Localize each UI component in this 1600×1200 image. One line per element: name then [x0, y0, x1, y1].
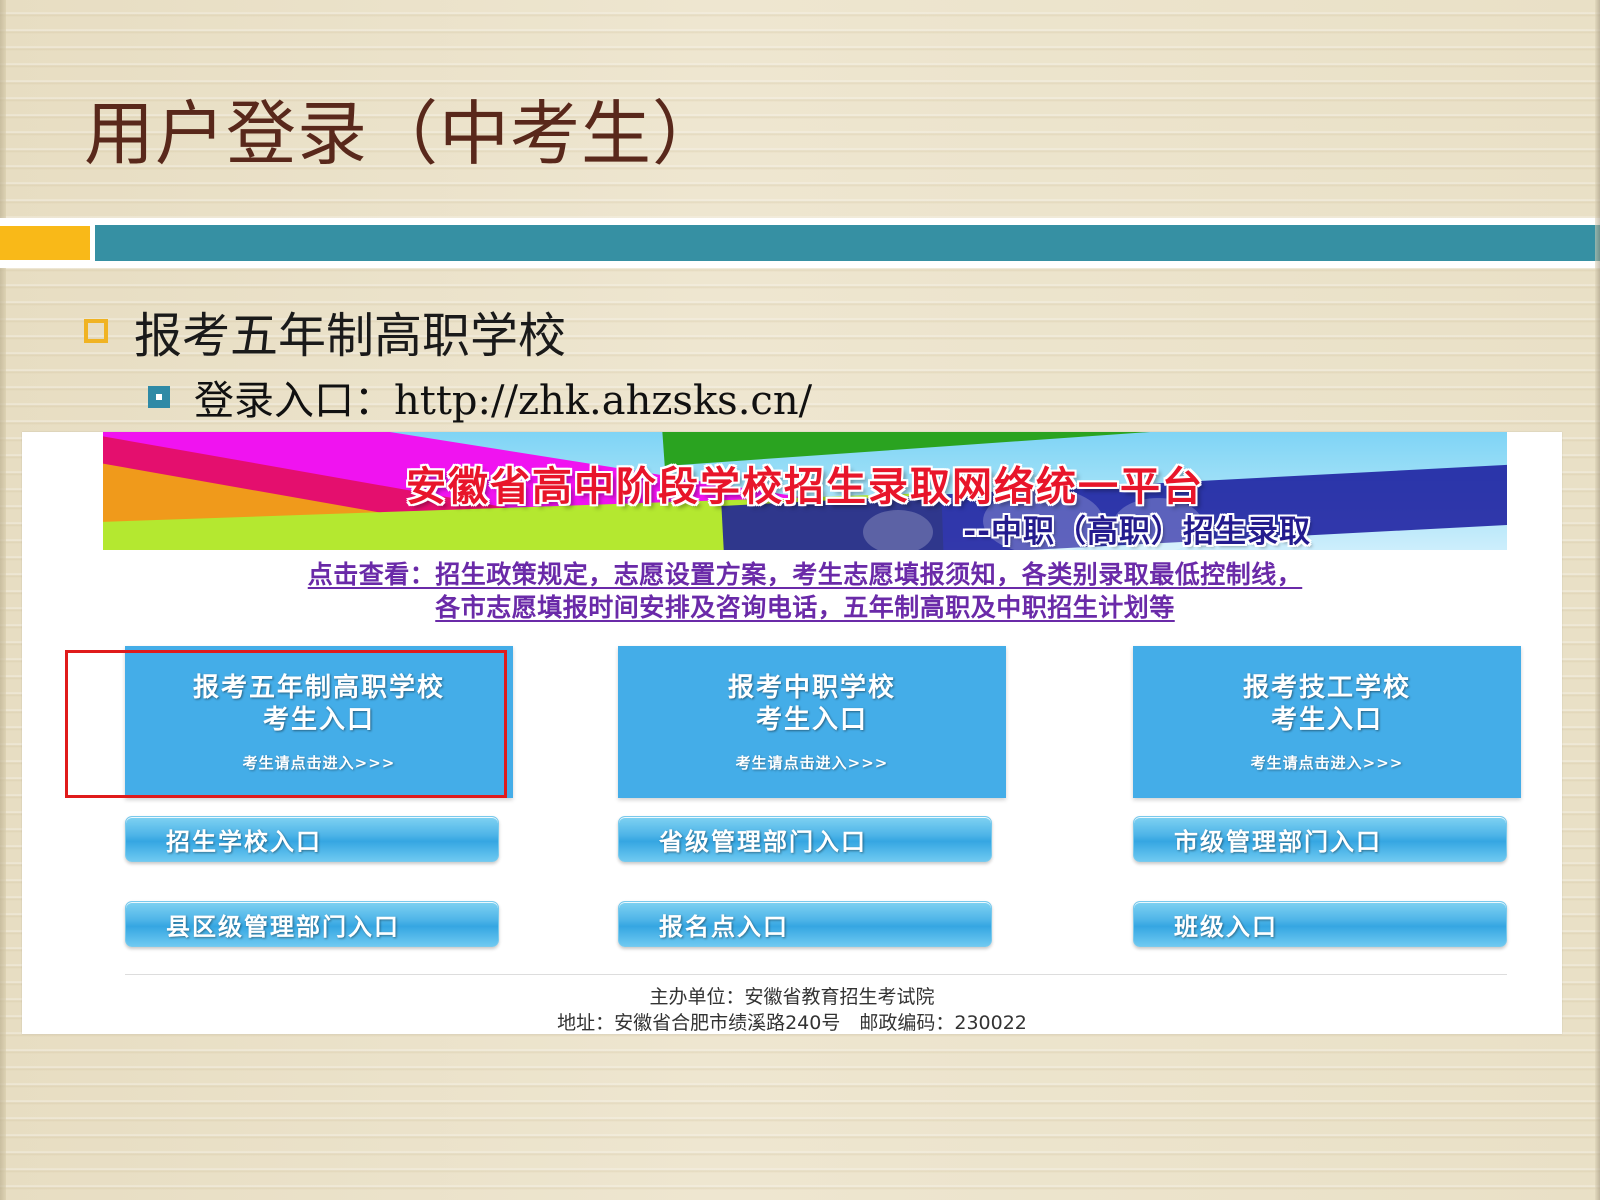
announcement-link[interactable]: 点击查看：招生政策规定，志愿设置方案，考生志愿填报须知，各类别录取最低控制线， …	[103, 558, 1507, 624]
footer-divider	[125, 974, 1507, 975]
button-municipal-admin-entry[interactable]: 市级管理部门入口	[1133, 816, 1507, 862]
button-label: 招生学校入口	[166, 822, 322, 857]
button-class-entry[interactable]: 班级入口	[1133, 901, 1507, 947]
entry-card-title-line2: 考生入口	[263, 704, 375, 736]
bullet-level1-label: 报考五年制高职学校	[134, 296, 566, 366]
banner-bubble-icon	[863, 510, 933, 550]
entry-card-title-line1: 报考中职学校	[728, 672, 896, 704]
button-provincial-admin-entry[interactable]: 省级管理部门入口	[618, 816, 992, 862]
footer-address: 地址：安徽省合肥市绩溪路240号 邮政编码：230022	[22, 1010, 1562, 1034]
accent-bar-teal	[95, 225, 1600, 261]
banner-subtitle: --中职（高职）招生录取	[963, 506, 1311, 550]
button-label: 报名点入口	[659, 907, 789, 942]
bullet-marker-square-outline-icon	[84, 319, 108, 343]
announcement-line-1: 点击查看：招生政策规定，志愿设置方案，考生志愿填报须知，各类别录取最低控制线，	[308, 560, 1303, 589]
entry-card-hint: 考生请点击进入>>>	[243, 752, 396, 773]
slide-canvas: 用户登录（中考生） 报考五年制高职学校 登录入口：http://zhk.ahzs…	[0, 0, 1600, 1200]
site-footer: 主办单位：安徽省教育招生考试院 地址：安徽省合肥市绩溪路240号 邮政编码：23…	[22, 984, 1562, 1034]
page-title: 用户登录（中考生）	[84, 78, 723, 179]
entry-card-technical-school[interactable]: 报考技工学校 考生入口 考生请点击进入>>>	[1133, 646, 1521, 798]
entry-card-hint: 考生请点击进入>>>	[736, 752, 889, 773]
entry-card-vocational-college[interactable]: 报考五年制高职学校 考生入口 考生请点击进入>>>	[125, 646, 513, 798]
entry-card-title-line1: 报考技工学校	[1243, 672, 1411, 704]
entry-card-title-line2: 考生入口	[756, 704, 868, 736]
entry-card-hint: 考生请点击进入>>>	[1251, 752, 1404, 773]
embedded-website-screenshot: 安徽省高中阶段学校招生录取网络统一平台 --中职（高职）招生录取 点击查看：招生…	[22, 432, 1562, 1034]
accent-bar-orange	[0, 226, 90, 260]
bullet-marker-square-solid-icon	[148, 386, 170, 408]
site-banner: 安徽省高中阶段学校招生录取网络统一平台 --中职（高职）招生录取	[103, 432, 1507, 550]
button-label: 市级管理部门入口	[1174, 822, 1382, 857]
bullet-level2: 登录入口：http://zhk.ahzsks.cn/	[148, 368, 812, 426]
entry-card-group: 报考五年制高职学校 考生入口 考生请点击进入>>> 报考中职学校 考生入口 考生…	[103, 646, 1507, 798]
button-label: 县区级管理部门入口	[166, 907, 400, 942]
entry-card-title-line1: 报考五年制高职学校	[193, 672, 445, 704]
announcement-line-2: 各市志愿填报时间安排及咨询电话，五年制高职及中职招生计划等	[103, 591, 1507, 624]
button-label: 班级入口	[1174, 907, 1278, 942]
bullet-level1: 报考五年制高职学校	[84, 296, 566, 366]
bullet-level2-label: 登录入口：http://zhk.ahzsks.cn/	[194, 368, 812, 426]
footer-organizer: 主办单位：安徽省教育招生考试院	[22, 984, 1562, 1010]
entry-card-title-line2: 考生入口	[1271, 704, 1383, 736]
banner-title: 安徽省高中阶段学校招生录取网络统一平台	[103, 454, 1507, 512]
button-label: 省级管理部门入口	[659, 822, 867, 857]
entry-card-secondary-vocational[interactable]: 报考中职学校 考生入口 考生请点击进入>>>	[618, 646, 1006, 798]
button-registration-point-entry[interactable]: 报名点入口	[618, 901, 992, 947]
button-county-admin-entry[interactable]: 县区级管理部门入口	[125, 901, 499, 947]
button-admission-school-entry[interactable]: 招生学校入口	[125, 816, 499, 862]
